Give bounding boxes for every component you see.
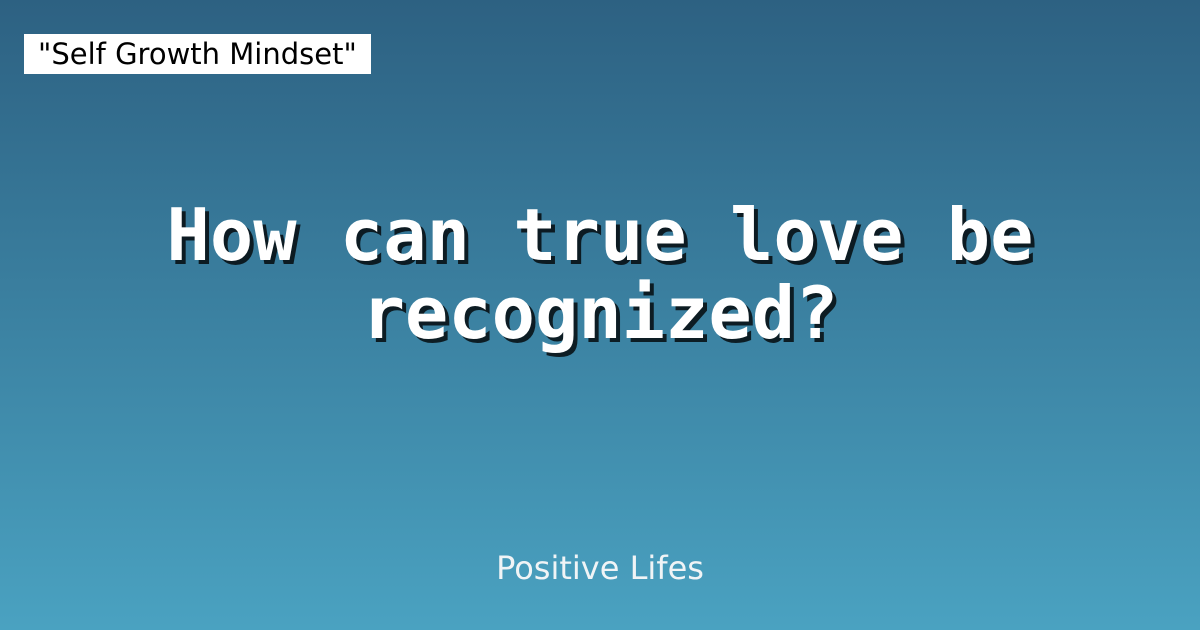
category-badge: "Self Growth Mindset" [24,34,371,74]
poster-canvas: "Self Growth Mindset" How can true love … [0,0,1200,630]
category-badge-label: "Self Growth Mindset" [38,40,357,69]
headline-block: How can true love be recognized? [0,196,1200,352]
footer-block: Positive Lifes [0,548,1200,588]
brand-name: Positive Lifes [496,549,704,587]
headline-title: How can true love be recognized? [60,196,1140,352]
